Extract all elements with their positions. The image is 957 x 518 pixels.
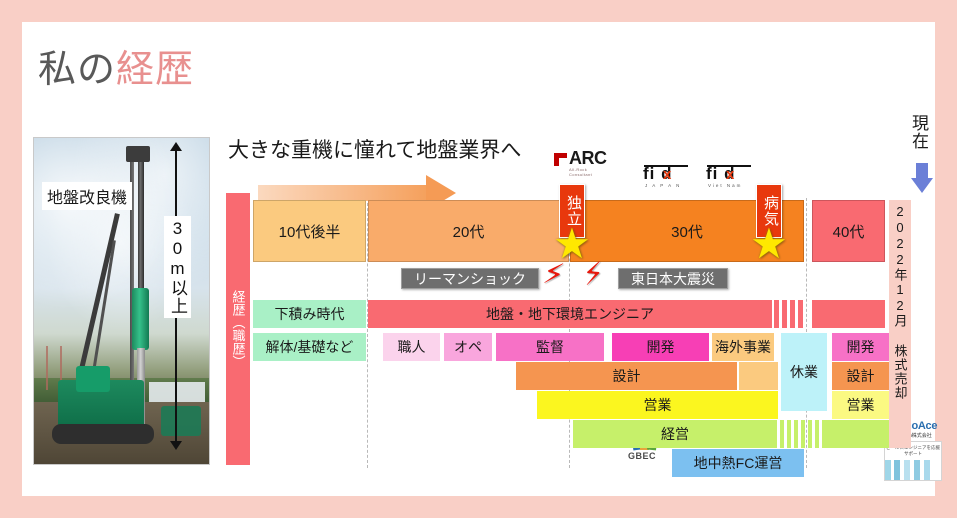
cell-overseas-business: 海外事業 <box>712 333 774 361</box>
arrow-body <box>258 185 428 201</box>
age-band-teens: 10代後半 <box>253 200 366 262</box>
crisis-tag-earthquake: 東日本大震災 <box>618 268 728 289</box>
cell-operator: オペ <box>444 333 492 361</box>
cell-management-later <box>822 420 889 448</box>
age-band-forties: 40代 <box>812 200 885 262</box>
cell-engineer: 地盤・地下環境エンジニア <box>368 300 772 328</box>
cell-design-later: 設計 <box>832 362 889 390</box>
cell-design: 設計 <box>516 362 737 390</box>
cell-craftsman: 職人 <box>383 333 440 361</box>
timeline-row-sales: 営業 営業 <box>0 391 957 419</box>
timeline-row-main-role: 下積み時代 地盤・地下環境エンジニア <box>0 300 957 328</box>
cell-sales: 営業 <box>537 391 778 419</box>
cell-management-gap <box>780 420 784 448</box>
stock-sale-note: 2022年12月 株式売却 <box>889 200 911 448</box>
timeline-row-franchise: 地中熱FC運営 <box>0 449 957 477</box>
cell-engineer-continued <box>812 300 885 328</box>
cell-management-gap <box>787 420 791 448</box>
cell-engineer-gap <box>798 300 803 328</box>
cell-geothermal-fc: 地中熱FC運営 <box>672 449 804 477</box>
cell-management: 経営 <box>573 420 777 448</box>
timeline-row-management: 経営 <box>0 420 957 448</box>
cell-management-gap <box>794 420 798 448</box>
cell-management-gap <box>808 420 812 448</box>
career-timeline: 経歴（職歴） 10代後半 20代 30代 40代 独立 病気 ★ ★ ⚡ ⚡ リ… <box>0 0 957 518</box>
age-band-twenties: 20代 <box>368 200 569 262</box>
cell-supervisor: 監督 <box>496 333 604 361</box>
timeline-row-design: 設計 設計 <box>0 362 957 390</box>
cell-development-later: 開発 <box>832 333 889 361</box>
lightning-bolt-icon: ⚡ <box>581 259 606 292</box>
cell-management-gap <box>815 420 819 448</box>
crisis-tag-lehman: リーマンショック <box>401 268 539 289</box>
cell-engineer-gap <box>774 300 779 328</box>
cell-apprentice: 下積み時代 <box>253 300 366 328</box>
lightning-bolt-icon: ⚡ <box>541 259 566 292</box>
cell-design-fade <box>739 362 778 390</box>
star-icon-illness: ★ <box>749 225 789 265</box>
growth-arrow-icon <box>258 179 456 201</box>
timeline-row-detail-role: 解体/基礎など 職人 オペ 監督 開発 海外事業 休業 開発 <box>0 333 957 361</box>
cell-sales-later: 営業 <box>832 391 889 419</box>
cell-management-gap <box>801 420 805 448</box>
cell-demolition: 解体/基礎など <box>253 333 366 361</box>
cell-engineer-gap <box>782 300 787 328</box>
cell-development: 開発 <box>612 333 709 361</box>
cell-engineer-gap <box>790 300 795 328</box>
